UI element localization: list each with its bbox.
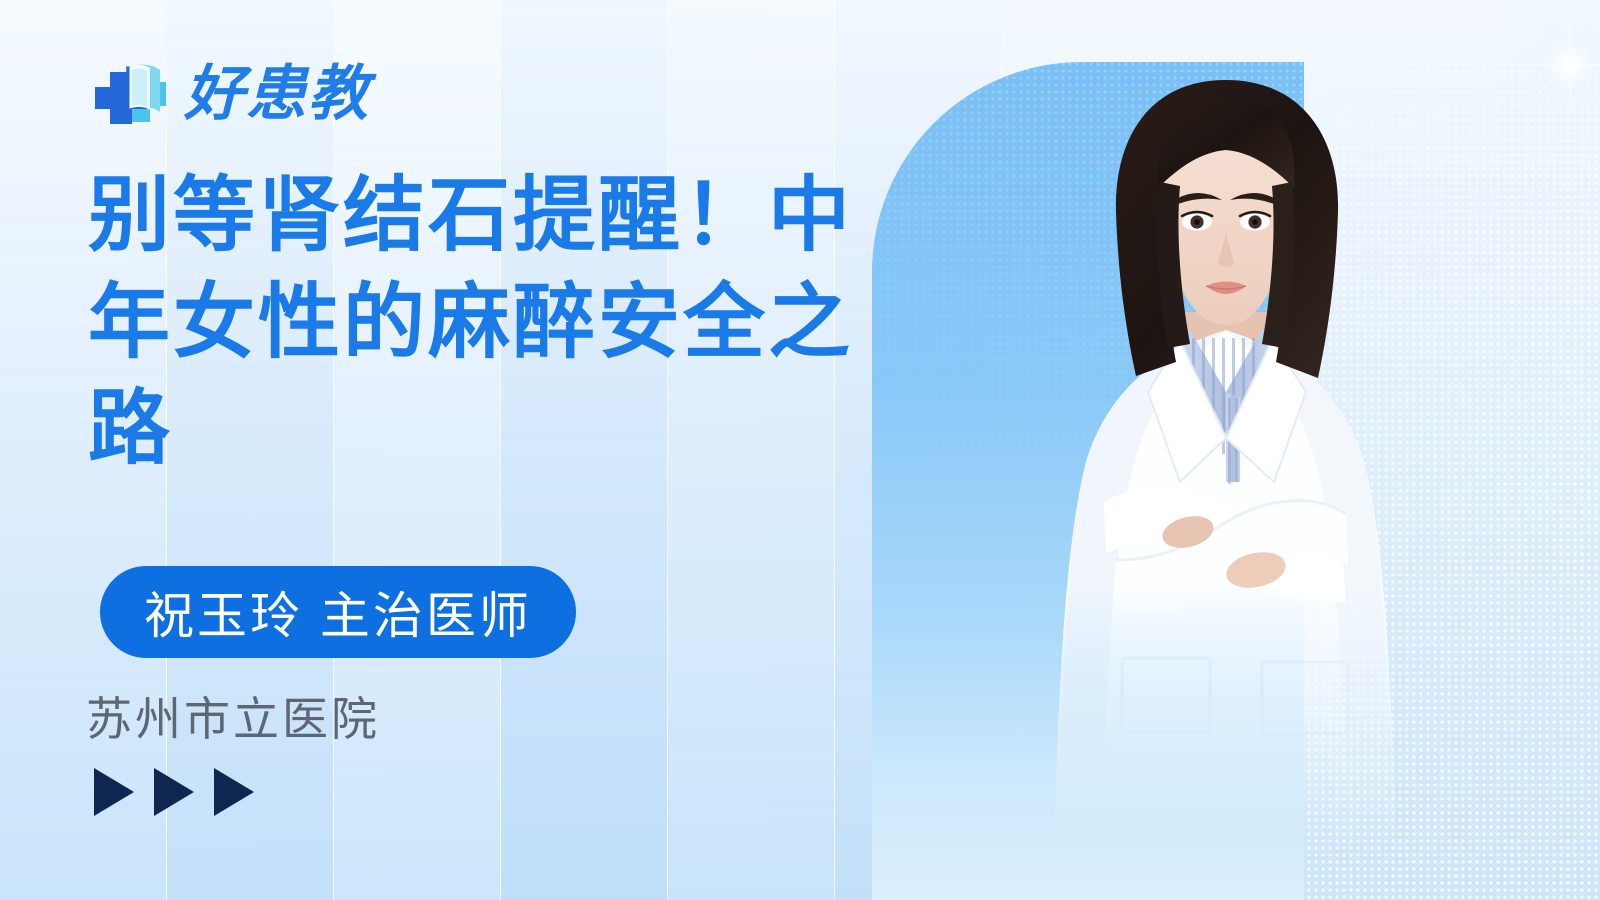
speaker-name-badge: 祝玉玲 主治医师 (100, 566, 576, 658)
hospital-label: 苏州市立医院 (86, 683, 380, 749)
brand-name: 好患教 (184, 64, 370, 124)
play-arrows (94, 768, 254, 816)
medical-cross-book-icon (88, 52, 172, 136)
play-triangle-icon (214, 768, 254, 816)
speaker-name-label: 祝玉玲 主治医师 (144, 576, 532, 648)
brand-logo[interactable]: 好患教 (88, 52, 370, 136)
play-triangle-icon (154, 768, 194, 816)
doctor-portrait (1030, 62, 1420, 900)
poster-canvas: 好患教 别等肾结石提醒！中年女性的麻醉安全之路 祝玉玲 主治医师 苏州市立医院 (0, 0, 1600, 900)
page-title: 别等肾结石提醒！中年女性的麻醉安全之路 (88, 163, 878, 483)
play-triangle-icon (94, 768, 134, 816)
